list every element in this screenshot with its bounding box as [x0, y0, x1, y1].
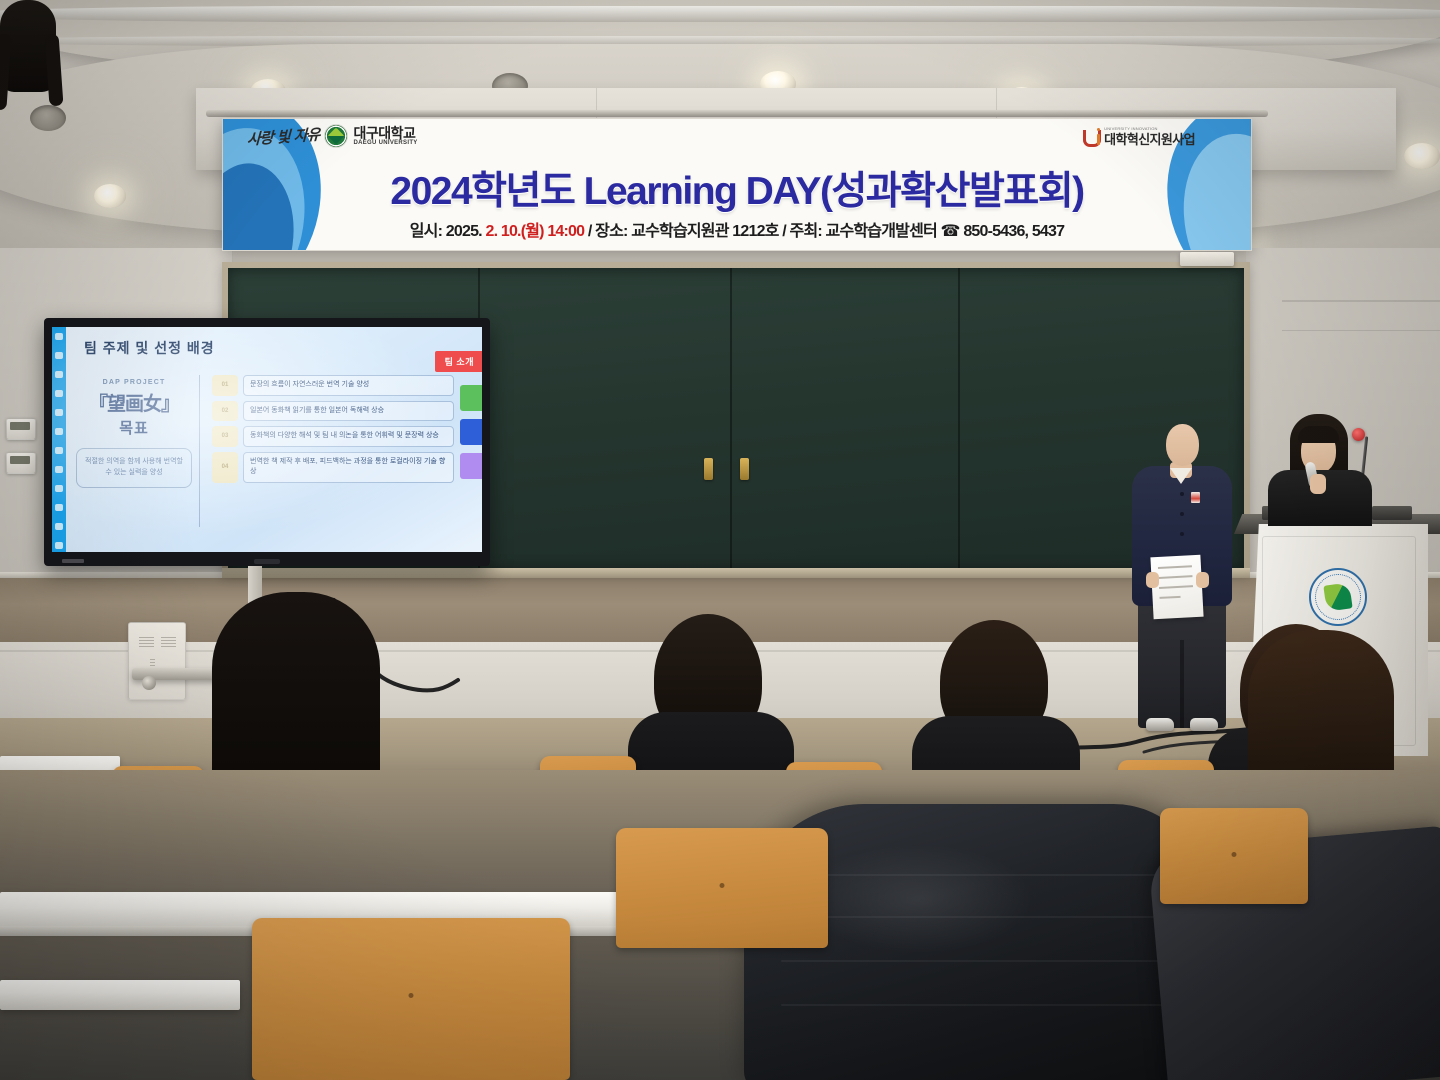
banner-rod [206, 110, 1268, 117]
slide-bullet-number: 03 [212, 426, 238, 447]
event-banner: 사랑 빛 자유 대구대학교 DAEGU UNIVERSITY UNIVERSIT… [222, 118, 1252, 251]
banner-info-rest: / 장소: 교수학습지원관 1212호 / 주최: 교수학습개발센터 ☎ 850… [584, 223, 1064, 240]
banner-title: 2024학년도 Learning DAY(성과확산발표회) [223, 160, 1251, 216]
ui-program-mark-icon [1083, 128, 1100, 148]
slide-team-name: 『望画女』 [76, 389, 192, 416]
slide-tab-blue [460, 419, 482, 445]
slide-bullet-row: 01문장의 흐름이 자연스러운 번역 기술 양성 [212, 375, 454, 396]
slide-filmstrip-decoration [52, 327, 66, 552]
chalkboard-handle-left[interactable] [704, 458, 713, 480]
chalk-tray [222, 568, 1250, 578]
wall-mounted-flat-panel-display[interactable]: 팀 주제 및 선정 배경 팀 소개 DAP PROJECT 『望画女』 목표 적… [44, 318, 490, 566]
slide-bullet-row: 02일본어 동화책 읽기를 통한 일본어 독해력 상승 [212, 401, 454, 422]
slide-bullet-row: 03동화책의 다양한 해석 및 팀 내 의논을 통한 어휘력 및 문장력 상승 [212, 426, 454, 447]
thermostat-lower[interactable] [6, 452, 36, 474]
daegu-university-seal-icon [1309, 568, 1367, 626]
university-name-en: DAEGU UNIVERSITY [353, 140, 417, 146]
chair-front-right[interactable] [1160, 808, 1308, 904]
slide-bullet-list: 01문장의 흐름이 자연스러운 번역 기술 양성02일본어 동화책 읽기를 통한… [212, 375, 454, 488]
slide-tab-purple [460, 453, 482, 479]
slide-bullet-row: 04번역한 책 제작 후 배포, 피드백하는 과정을 통한 로컬라이징 기술 향… [212, 452, 454, 483]
ceiling-downlight [30, 105, 66, 131]
display-brand-mark [62, 559, 84, 563]
calligraphy-motto: 사랑 빛 자유 [247, 123, 320, 149]
university-name-kr: 대구대학교 [353, 126, 417, 140]
ceiling-rail-1 [0, 6, 1440, 22]
slide-bullet-text: 번역한 책 제작 후 배포, 피드백하는 과정을 통한 로컬라이징 기술 향상 [243, 452, 454, 483]
display-ir-sensor [254, 559, 280, 564]
banner-right-logo: UNIVERSITY INNOVATION 대학혁신지원사업 [1083, 127, 1195, 148]
ceiling-downlight [94, 184, 126, 208]
slide-bullet-number: 04 [212, 452, 238, 483]
banner-info-prefix: 일시: 2025. [410, 223, 486, 240]
wall-seam [1282, 330, 1440, 331]
slide-section-badge: 팀 소개 [435, 351, 482, 372]
lecture-hall-photo: 사랑 빛 자유 대구대학교 DAEGU UNIVERSITY UNIVERSIT… [0, 0, 1440, 1080]
thermostat-upper[interactable] [6, 418, 36, 440]
presenter-script-pages [1150, 555, 1203, 620]
chair-front-left[interactable] [252, 918, 570, 1080]
slide-title: 팀 주제 및 선정 배경 [84, 338, 215, 358]
standing-presenter [0, 0, 56, 92]
slide-bullet-number: 02 [212, 401, 238, 422]
slide-project-label: DAP PROJECT [76, 379, 192, 386]
daegu-university-emblem-icon [325, 125, 347, 147]
slide-bullet-text: 동화책의 다양한 해석 및 팀 내 의논을 통한 어휘력 및 문장력 상승 [243, 426, 454, 447]
slide-tab-green [460, 385, 482, 411]
chalkboard-handle-right[interactable] [740, 458, 749, 480]
podium-mic-block-right [1372, 506, 1412, 520]
chair-front-mid[interactable] [616, 828, 828, 948]
banner-info-date: 2. 10.(월) 14:00 [485, 223, 584, 240]
program-subtext: UNIVERSITY INNOVATION [1104, 127, 1195, 131]
banner-info-line: 일시: 2025. 2. 10.(월) 14:00 / 장소: 교수학습지원관 … [223, 217, 1251, 241]
wall-outlet-panel[interactable] [128, 622, 186, 700]
slide-left-panel: DAP PROJECT 『望画女』 목표 적절한 의역을 함께 사용해 번역할 … [76, 379, 192, 488]
slide-goal-box: 적절한 의역을 함께 사용해 번역할 수 있는 실력을 양성 [76, 448, 192, 488]
slide-goal-label: 목표 [76, 417, 192, 438]
gooseneck-microphone-head-icon [1352, 428, 1365, 441]
slide-bullet-number: 01 [212, 375, 238, 396]
stand-caster-left [142, 676, 156, 690]
ceiling-downlight [1404, 143, 1440, 169]
name-badge [1191, 492, 1200, 503]
slide-bullet-text: 일본어 동화책 읽기를 통한 일본어 독해력 상승 [243, 401, 454, 422]
wall-seam [1282, 300, 1440, 302]
banner-left-logo: 사랑 빛 자유 대구대학교 DAEGU UNIVERSITY [247, 125, 418, 147]
slide-bullet-text: 문장의 흐름이 자연스러운 번역 기술 양성 [243, 375, 454, 396]
desk-front-lowest [0, 980, 240, 1010]
program-name-kr: 대학혁신지원사업 [1104, 132, 1195, 147]
presentation-slide: 팀 주제 및 선정 배경 팀 소개 DAP PROJECT 『望画女』 목표 적… [52, 327, 482, 552]
slide-divider [199, 375, 200, 527]
projector-mount [1180, 252, 1234, 266]
